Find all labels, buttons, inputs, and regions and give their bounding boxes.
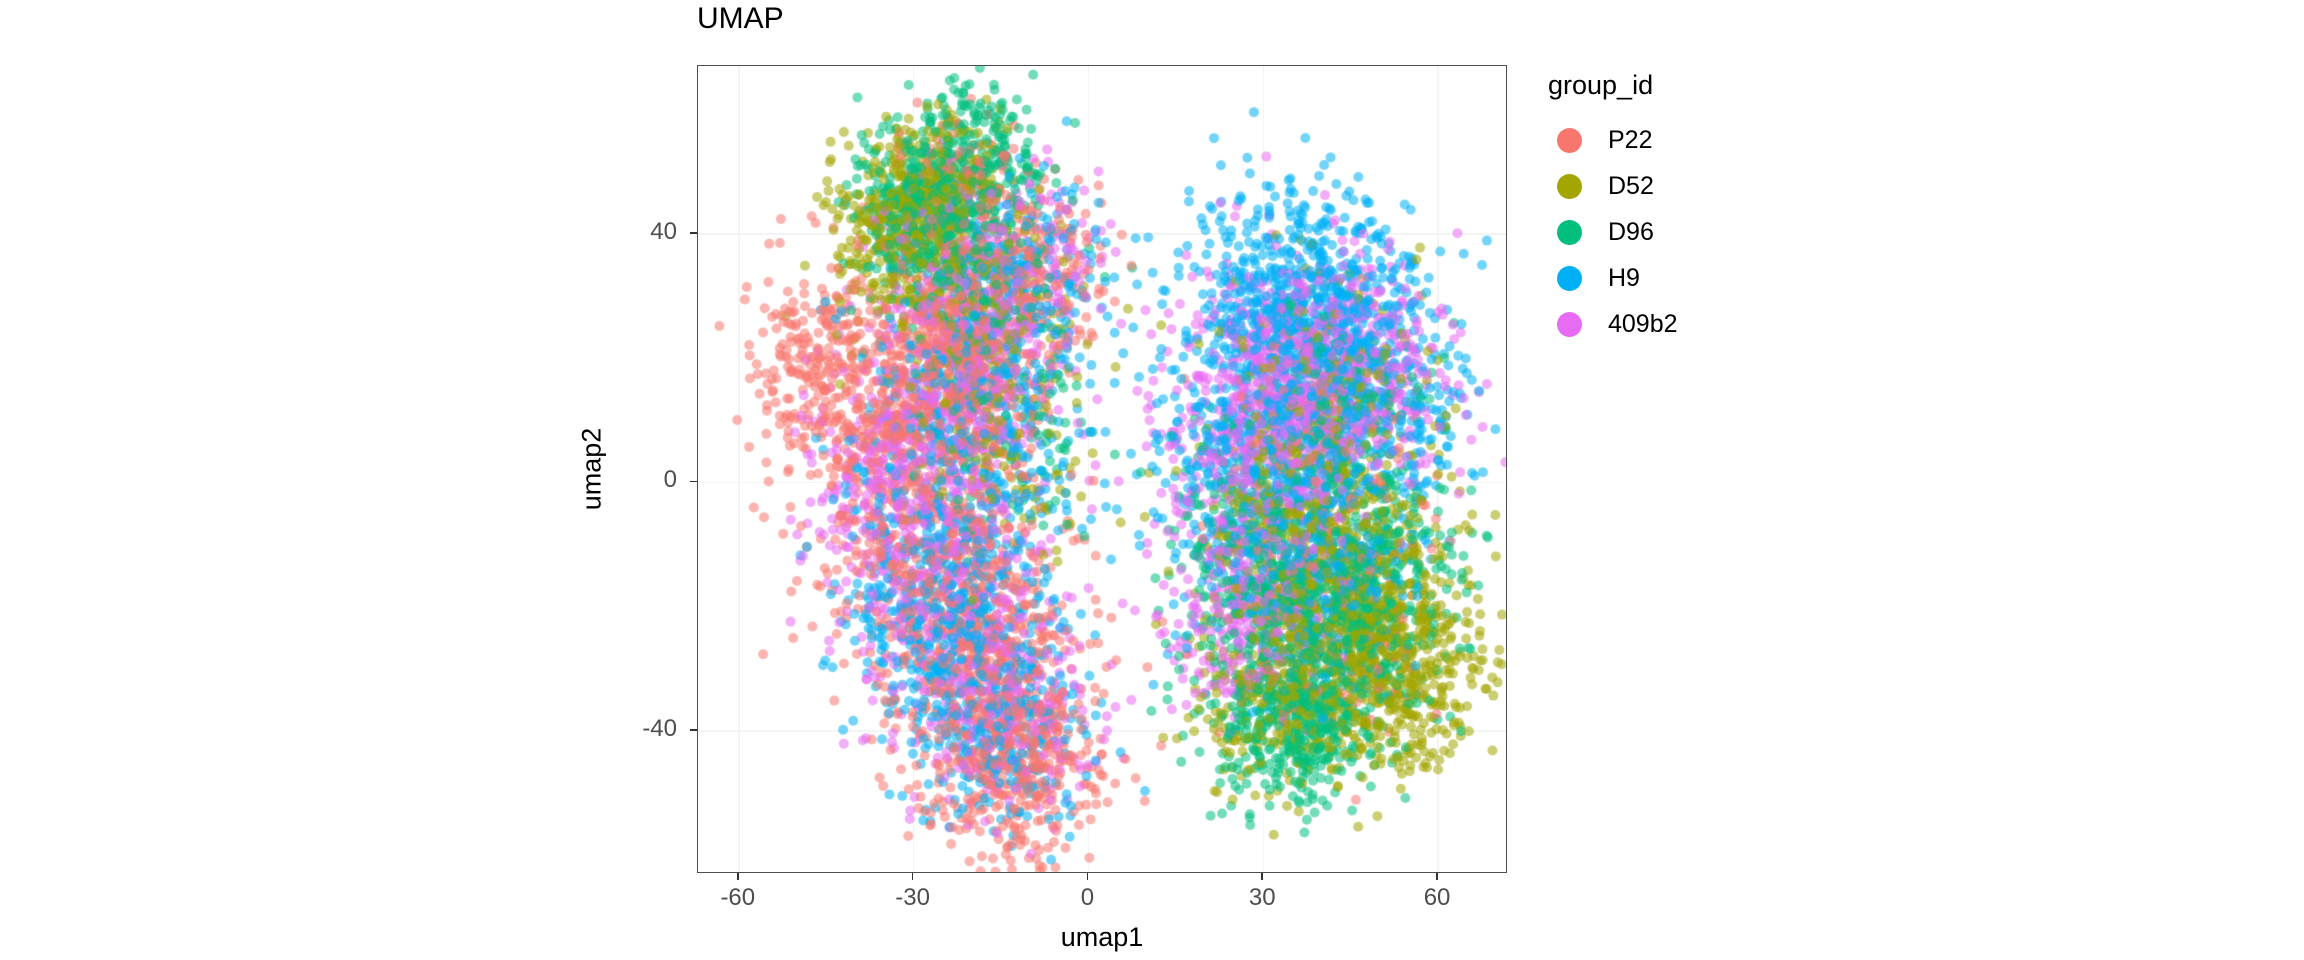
legend: group_id P22D52D96H9409b2	[1548, 70, 1678, 347]
circle-icon	[1557, 128, 1582, 153]
circle-icon	[1557, 312, 1582, 337]
circle-icon	[1557, 266, 1582, 291]
legend-key	[1548, 211, 1590, 253]
legend-key	[1548, 257, 1590, 299]
x-tick-mark	[1261, 873, 1263, 880]
umap-plot-figure: UMAP -60-3003060-40040 umap1 umap2 group…	[0, 0, 2304, 960]
legend-item-d52[interactable]: D52	[1548, 163, 1678, 209]
legend-item-h9[interactable]: H9	[1548, 255, 1678, 301]
x-tick-label: -60	[678, 884, 798, 912]
legend-items: P22D52D96H9409b2	[1548, 117, 1678, 347]
legend-item-d96[interactable]: D96	[1548, 209, 1678, 255]
x-tick-label: 0	[1027, 884, 1147, 912]
legend-item-label: 409b2	[1608, 310, 1678, 339]
legend-item-label: D96	[1608, 218, 1654, 247]
x-tick-mark	[737, 873, 739, 880]
y-tick-mark	[690, 729, 697, 731]
scatter-plot-panel	[697, 65, 1507, 873]
y-tick-label: -40	[542, 715, 677, 743]
y-tick-mark	[690, 232, 697, 234]
x-tick-label: 60	[1377, 884, 1497, 912]
page-title: UMAP	[697, 2, 784, 36]
legend-key	[1548, 119, 1590, 161]
y-tick-label: 0	[542, 466, 677, 494]
legend-item-409b2[interactable]: 409b2	[1548, 301, 1678, 347]
legend-item-label: P22	[1608, 126, 1652, 155]
x-axis-title: umap1	[697, 922, 1507, 953]
circle-icon	[1557, 174, 1582, 199]
legend-item-label: H9	[1608, 264, 1640, 293]
x-tick-mark	[912, 873, 914, 880]
legend-item-label: D52	[1608, 172, 1654, 201]
y-tick-mark	[690, 481, 697, 483]
legend-key	[1548, 165, 1590, 207]
y-axis-title: umap2	[577, 428, 608, 511]
scatter-points-layer	[698, 66, 1507, 873]
legend-item-p22[interactable]: P22	[1548, 117, 1678, 163]
legend-title: group_id	[1548, 70, 1678, 101]
y-tick-label: 40	[542, 218, 677, 246]
legend-key	[1548, 303, 1590, 345]
x-tick-label: 30	[1202, 884, 1322, 912]
x-tick-mark	[1087, 873, 1089, 880]
circle-icon	[1557, 220, 1582, 245]
x-tick-mark	[1436, 873, 1438, 880]
x-tick-label: -30	[853, 884, 973, 912]
